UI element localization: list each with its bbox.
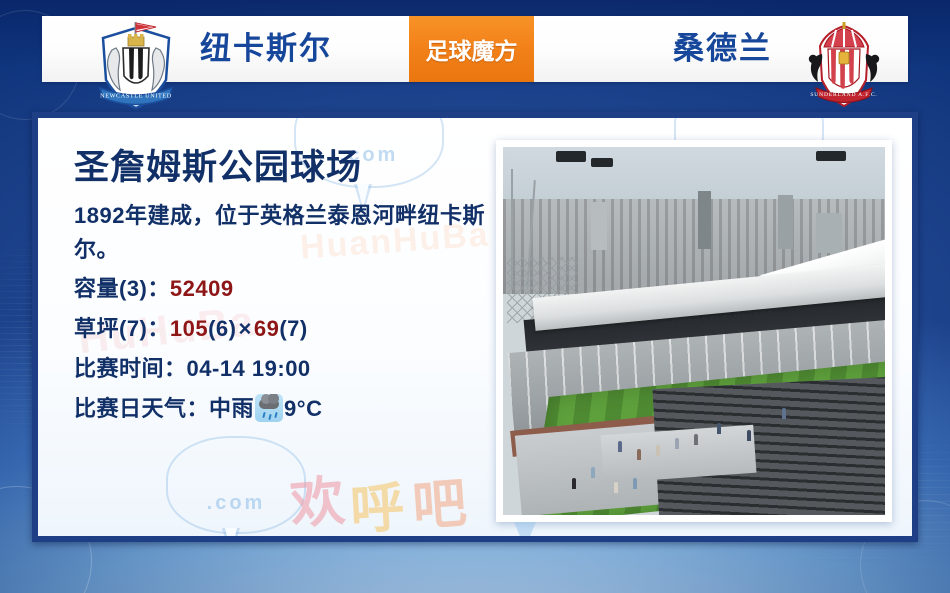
match-header-bar: NEWCASTLE UNITED 纽卡斯尔 足球魔方 桑德兰 xyxy=(42,16,908,82)
sunderland-afc-crest: SUNDERLAND A.F.C. xyxy=(798,20,890,112)
photo-bubble-tail xyxy=(514,522,536,536)
watermark-cheer-char: 呼 xyxy=(348,463,410,536)
match-time-value: 04-14 19:00 xyxy=(187,356,311,381)
pitch-label: 草坪(7)： xyxy=(74,316,170,341)
stadium-photo-frame: NEWCASTLE UNITED xyxy=(496,140,892,522)
photo-spectator xyxy=(572,478,576,489)
stadium-title: 圣詹姆斯公园球场 xyxy=(74,148,494,188)
pitch-length-rank: (6) xyxy=(208,316,236,341)
capacity-value: 52409 xyxy=(170,276,234,301)
photo-spectator xyxy=(633,478,637,489)
capacity-row: 容量(3)：52409 xyxy=(74,272,494,306)
svg-text:SUNDERLAND A.F.C.: SUNDERLAND A.F.C. xyxy=(810,92,877,98)
photo-spectator xyxy=(656,445,660,456)
svg-text:NEWCASTLE UNITED: NEWCASTLE UNITED xyxy=(100,93,172,100)
pitch-length-value: 105 xyxy=(170,316,208,341)
pitch-width-rank: (7) xyxy=(279,316,307,341)
photo-spectator xyxy=(614,482,618,493)
capacity-label: 容量(3)： xyxy=(74,276,170,301)
photo-building xyxy=(591,202,607,250)
photo-building xyxy=(778,195,793,249)
photo-floodlight xyxy=(816,151,846,161)
watermark-cheer-char: 吧 xyxy=(409,458,472,536)
stadium-photo: NEWCASTLE UNITED xyxy=(503,147,885,515)
weather-temperature: 9°C xyxy=(284,396,322,421)
pitch-row: 草坪(7)：105(6)×69(7) xyxy=(74,312,494,346)
weather-label: 比赛日天气： xyxy=(74,396,209,421)
stadium-info-panel-inner: .com .com .com HuHuBa HuanHuBa HuanHuBa … xyxy=(38,118,912,536)
stadium-details: 圣詹姆斯公园球场 1892年建成，位于英格兰泰恩河畔纽卡斯尔。 容量(3)：52… xyxy=(74,148,494,427)
watermark-bubble: .com xyxy=(166,436,306,534)
photo-spectator xyxy=(782,408,786,419)
match-time-label: 比赛时间： xyxy=(74,356,187,381)
brand-logo[interactable]: 足球魔方 xyxy=(409,16,534,82)
watermark-com-text: .com xyxy=(207,492,266,514)
photo-building xyxy=(698,191,711,249)
away-team-name: 桑德兰 xyxy=(673,16,772,82)
match-time-row: 比赛时间：04-14 19:00 xyxy=(74,352,494,386)
photo-spectator xyxy=(618,441,622,452)
weather-value: 中雨 xyxy=(209,396,254,421)
weather-row: 比赛日天气：中雨 9°C xyxy=(74,392,494,426)
photo-building xyxy=(816,213,842,253)
brand-logo-label: 足球魔方 xyxy=(426,32,518,66)
photo-spectator xyxy=(591,467,595,478)
photo-spectator xyxy=(717,423,721,434)
photo-spectator xyxy=(637,449,641,460)
pitch-times-symbol: × xyxy=(237,316,254,341)
newcastle-united-crest: NEWCASTLE UNITED xyxy=(90,20,182,112)
photo-spectator xyxy=(675,438,679,449)
stadium-description: 1892年建成，位于英格兰泰恩河畔纽卡斯尔。 xyxy=(74,199,494,266)
pitch-width-value: 69 xyxy=(254,316,279,341)
photo-floodlight xyxy=(591,158,613,167)
photo-spectator xyxy=(747,430,751,441)
stadium-info-panel: .com .com .com HuHuBa HuanHuBa HuanHuBa … xyxy=(32,112,918,542)
photo-floodlight xyxy=(556,151,586,162)
watermark-cheer-char: 欢 xyxy=(287,456,352,536)
photo-spectator xyxy=(694,434,698,445)
moderate-rain-icon xyxy=(255,394,283,422)
home-team-name: 纽卡斯尔 xyxy=(200,16,332,82)
